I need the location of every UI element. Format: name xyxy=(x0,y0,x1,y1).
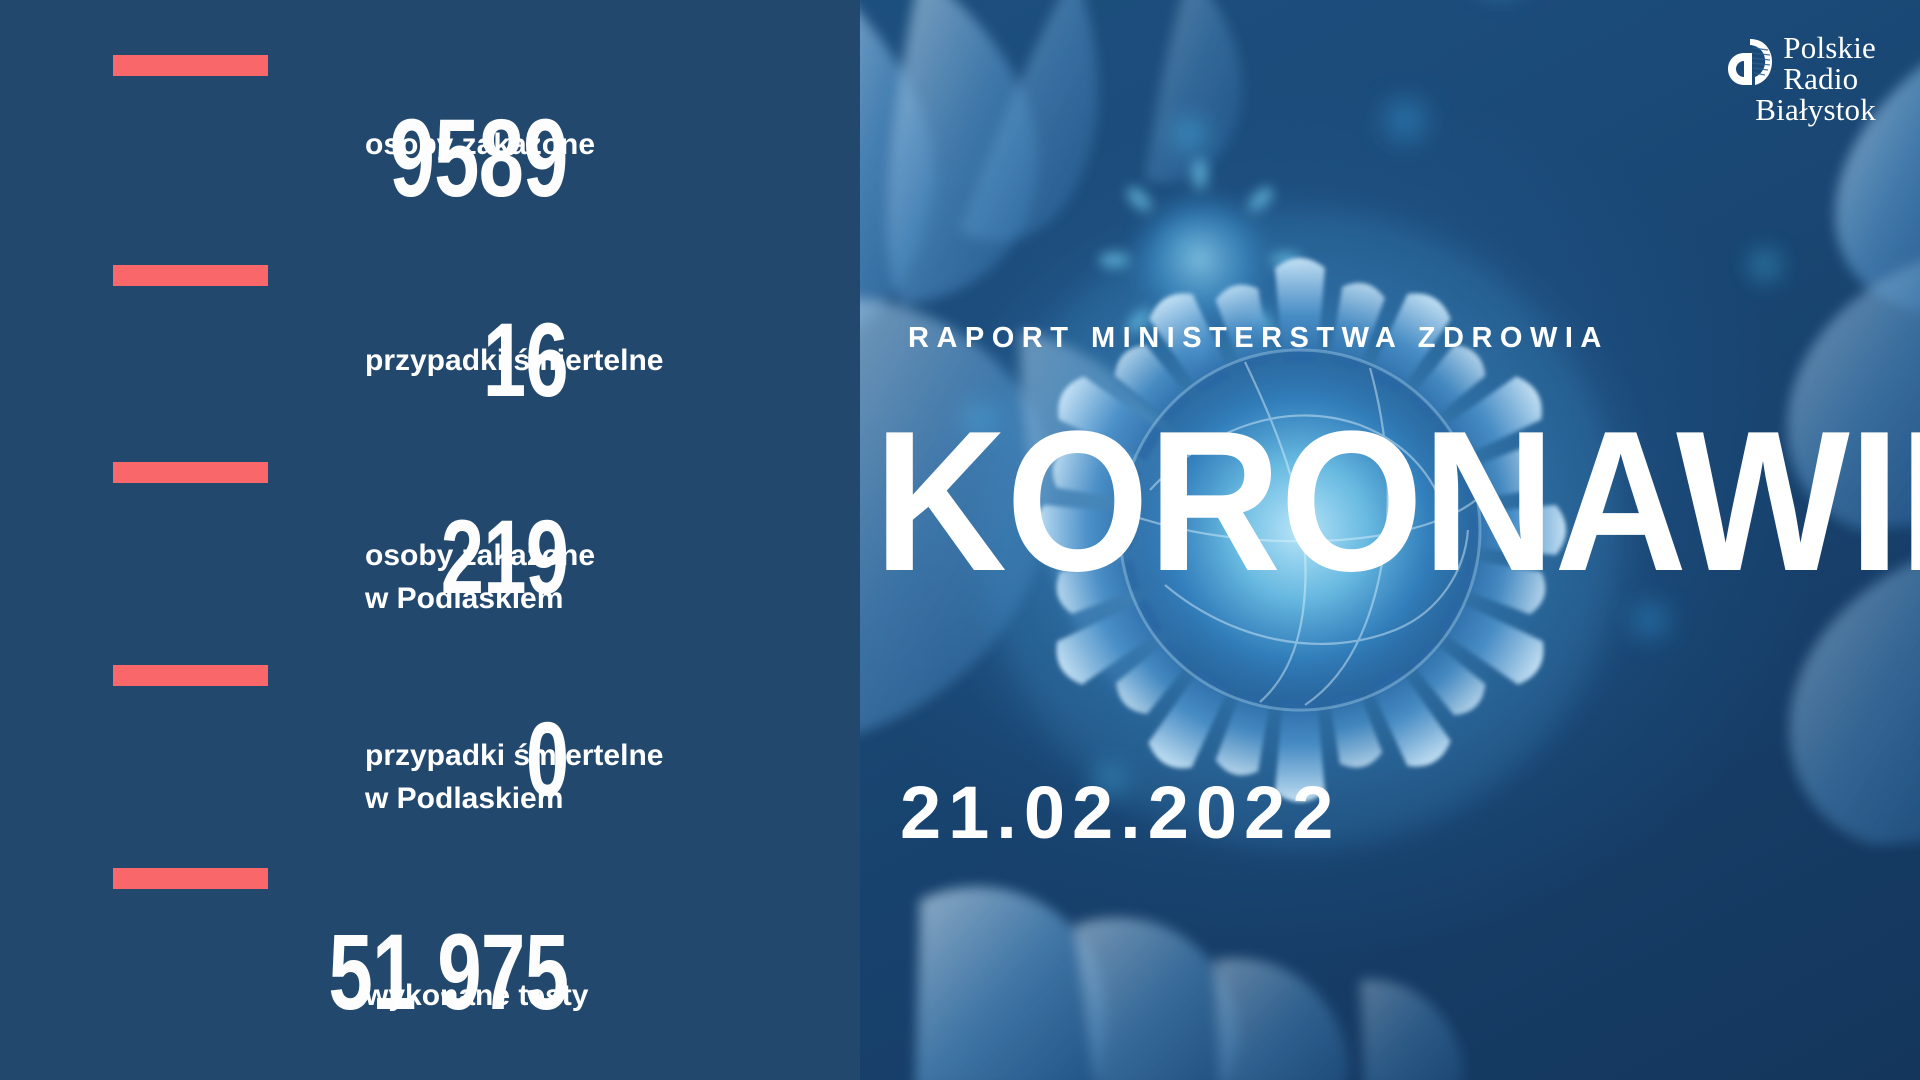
accent-divider-bar xyxy=(113,462,268,483)
accent-divider-bar xyxy=(113,665,268,686)
accent-divider-bar xyxy=(113,55,268,76)
stat-label: osoby zakażone w Podlaskiem xyxy=(365,535,595,620)
logo-line-bialystok: Białystok xyxy=(1755,94,1876,125)
logo-wordmark: Polskie Radio Białystok xyxy=(1783,32,1876,125)
stat-label: osoby zakażone xyxy=(365,124,595,167)
logo-line-polskie: Polskie xyxy=(1783,32,1876,63)
stat-label: przypadki śmiertelne xyxy=(365,340,663,383)
polskie-radio-bialystok-logo: Polskie Radio Białystok xyxy=(1724,32,1876,125)
report-date: 21.02.2022 xyxy=(900,770,1340,855)
report-kicker: RAPORT MINISTERSTWA ZDROWIA xyxy=(908,322,1609,355)
logo-line-radio: Radio xyxy=(1783,63,1876,94)
stat-label: przypadki śmiertelne w Podlaskiem xyxy=(365,735,663,820)
page-title: KORONAWIRUS xyxy=(874,404,1920,600)
accent-divider-bar xyxy=(113,265,268,286)
polskie-radio-monogram-icon xyxy=(1724,36,1776,90)
covid-report-infographic: 9589 osoby zakażone 16 przypadki śmierte… xyxy=(0,0,1920,1080)
coronavirus-image-panel: RAPORT MINISTERSTWA ZDROWIA KORONAWIRUS … xyxy=(860,0,1920,1080)
stat-label: wykonane testy xyxy=(365,975,588,1018)
statistics-panel: 9589 osoby zakażone 16 przypadki śmierte… xyxy=(0,0,860,1080)
accent-divider-bar xyxy=(113,868,268,889)
